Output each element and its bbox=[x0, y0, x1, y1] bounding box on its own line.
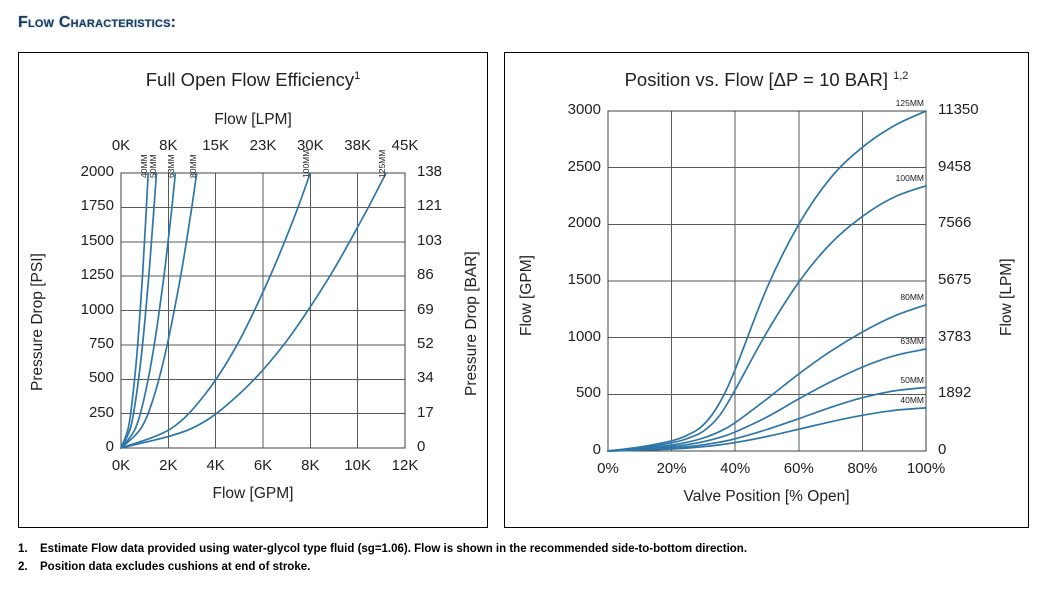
xtick-top-5: 38K bbox=[334, 137, 382, 154]
curve-label-50mm: 50MM bbox=[882, 375, 924, 385]
xtick-2: 40% bbox=[705, 460, 765, 477]
axis-title-pressure-drop-bar: Pressure Drop [BAR] bbox=[463, 226, 481, 396]
axis-title-valve-position: Valve Position [% Open] bbox=[505, 488, 1028, 506]
xtick-bottom-3: 6K bbox=[239, 457, 287, 474]
ytick-right-4: 69 bbox=[417, 301, 465, 318]
xtick-bottom-5: 10K bbox=[334, 457, 382, 474]
footnotes-list: 1.Estimate Flow data provided using wate… bbox=[18, 543, 1028, 579]
xtick-1: 20% bbox=[642, 460, 702, 477]
ytick-left-0: 0 bbox=[59, 438, 114, 455]
ytick-left-8: 2000 bbox=[59, 163, 114, 180]
ytick-right-0: 0 bbox=[938, 441, 998, 458]
ytick-left-2: 500 bbox=[59, 369, 114, 386]
ytick-left-4: 1000 bbox=[59, 301, 114, 318]
xtick-bottom-0: 0K bbox=[97, 457, 145, 474]
ytick-right-2: 34 bbox=[417, 369, 465, 386]
ytick-right-1: 17 bbox=[417, 404, 465, 421]
chart-panel-flow-efficiency: Full Open Flow Efficiency1 Flow [LPM]40M… bbox=[18, 52, 488, 528]
xtick-top-0: 0K bbox=[97, 137, 145, 154]
footnote-number: 1. bbox=[18, 543, 40, 555]
xtick-top-2: 15K bbox=[192, 137, 240, 154]
ytick-left-2: 1000 bbox=[545, 328, 601, 345]
curve-label-100mm: 100MM bbox=[882, 173, 924, 183]
axis-title-flow-gpm: Flow [GPM] bbox=[19, 485, 487, 503]
ytick-left-1: 250 bbox=[59, 404, 114, 421]
xtick-3: 60% bbox=[769, 460, 829, 477]
axis-title-pressure-drop-psi: Pressure Drop [PSI] bbox=[29, 231, 47, 391]
ytick-right-6: 11350 bbox=[938, 101, 998, 118]
curve-label-63mm: 63MM bbox=[882, 336, 924, 346]
xtick-bottom-1: 2K bbox=[144, 457, 192, 474]
ytick-right-0: 0 bbox=[417, 438, 465, 455]
ytick-left-5: 1250 bbox=[59, 266, 114, 283]
curve-label-63mm: 63MM bbox=[166, 154, 176, 178]
footnote-number: 2. bbox=[18, 561, 40, 573]
xtick-0: 0% bbox=[578, 460, 638, 477]
curve-label-125mm: 125MM bbox=[882, 98, 924, 108]
ytick-right-5: 9458 bbox=[938, 158, 998, 175]
ytick-left-0: 0 bbox=[545, 441, 601, 458]
axis-title-flow-lpm-right: Flow [LPM] bbox=[998, 226, 1016, 336]
xtick-4: 80% bbox=[832, 460, 892, 477]
xtick-top-3: 23K bbox=[239, 137, 287, 154]
footnote-text: Estimate Flow data provided using water-… bbox=[40, 543, 747, 556]
ytick-left-4: 2000 bbox=[545, 214, 601, 231]
axis-title-flow-gpm-right: Flow [GPM] bbox=[518, 226, 536, 336]
ytick-left-1: 500 bbox=[545, 384, 601, 401]
curve-label-50mm: 50MM bbox=[148, 154, 158, 178]
ytick-right-3: 5675 bbox=[938, 271, 998, 288]
ytick-right-1: 1892 bbox=[938, 384, 998, 401]
curve-label-80mm: 80MM bbox=[882, 292, 924, 302]
footnote-text: Position data excludes cushions at end o… bbox=[40, 561, 310, 574]
ytick-right-2: 3783 bbox=[938, 328, 998, 345]
curve-label-80mm: 80MM bbox=[188, 154, 198, 178]
xtick-top-4: 30K bbox=[286, 137, 334, 154]
ytick-left-7: 1750 bbox=[59, 197, 114, 214]
curve-100mm bbox=[608, 186, 926, 451]
ytick-left-6: 3000 bbox=[545, 101, 601, 118]
ytick-right-6: 103 bbox=[417, 232, 465, 249]
ytick-right-7: 121 bbox=[417, 197, 465, 214]
xtick-bottom-2: 4K bbox=[192, 457, 240, 474]
curve-50mm bbox=[608, 388, 926, 452]
ytick-left-3: 750 bbox=[59, 335, 114, 352]
xtick-bottom-6: 12K bbox=[381, 457, 429, 474]
ytick-right-5: 86 bbox=[417, 266, 465, 283]
xtick-top-1: 8K bbox=[144, 137, 192, 154]
ytick-left-5: 2500 bbox=[545, 158, 601, 175]
xtick-5: 100% bbox=[896, 460, 956, 477]
xtick-bottom-4: 8K bbox=[286, 457, 334, 474]
chart-panel-position-vs-flow: Position vs. Flow [ΔP = 10 BAR] 1,2 125M… bbox=[504, 52, 1029, 528]
ytick-left-6: 1500 bbox=[59, 232, 114, 249]
curve-label-40mm: 40MM bbox=[882, 395, 924, 405]
page-title: Flow Characteristics: bbox=[18, 14, 176, 32]
ytick-right-3: 52 bbox=[417, 335, 465, 352]
ytick-right-4: 7566 bbox=[938, 214, 998, 231]
ytick-left-3: 1500 bbox=[545, 271, 601, 288]
footnote-row: 1.Estimate Flow data provided using wate… bbox=[18, 543, 1028, 556]
xtick-top-6: 45K bbox=[381, 137, 429, 154]
footnote-row: 2.Position data excludes cushions at end… bbox=[18, 561, 1028, 574]
ytick-right-8: 138 bbox=[417, 163, 465, 180]
